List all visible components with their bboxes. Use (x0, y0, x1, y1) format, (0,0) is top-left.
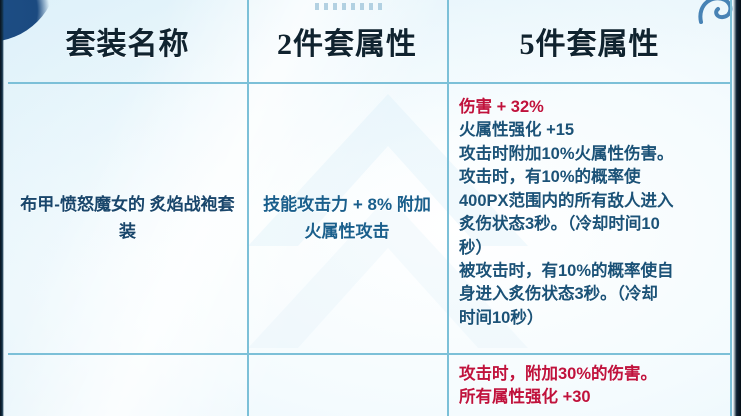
effect-line: 身进入炙伤状态3秒。（冷却 (459, 283, 674, 306)
cell-two-piece-bonus: 技能攻击力 + 8% 附加火属性攻击 (247, 84, 447, 353)
effect-line: 时间10秒） (459, 307, 674, 330)
two-piece-bonus-text: 技能攻击力 + 8% 附加火属性攻击 (257, 192, 437, 245)
cell-five-piece-bonus: 伤害 + 32%火属性强化 +15攻击时附加10%火属性伤害。攻击时，有10%的… (447, 84, 732, 353)
set-name-text: 布甲-愤怒魔女的 炙焰战袍套装 (18, 192, 237, 245)
effect-line: 秒） (459, 237, 674, 260)
five-piece-effect-list: 伤害 + 32%火属性强化 +15攻击时附加10%火属性伤害。攻击时，有10%的… (459, 96, 674, 330)
table-header-cell-two-piece: 2件套属性 (247, 0, 447, 82)
effect-line: 攻击时，附加30%的伤害。 (459, 363, 657, 386)
table-header-row: 套装名称 2件套属性 5件套属性 (8, 0, 732, 82)
header-label-two-piece: 2件套属性 (277, 19, 417, 63)
effect-line: 400PX范围内的所有敌人进入 (459, 190, 674, 213)
page-edge-right (733, 0, 741, 416)
header-label-set-name: 套装名称 (66, 19, 190, 63)
effect-line: 伤害 + 32% (459, 96, 674, 119)
five-piece-effect-list: 攻击时，附加30%的伤害。所有属性强化 +30 (459, 363, 657, 410)
slide-canvas: 套装名称 2件套属性 5件套属性 布甲-愤怒魔女的 炙焰战袍套装 技能攻击力 +… (0, 0, 741, 416)
header-label-five-piece: 5件套属性 (520, 19, 660, 63)
effect-line: 被攻击时，有10%的概率使自 (459, 260, 674, 283)
effect-line: 火属性强化 +15 (459, 119, 674, 142)
effect-line: 攻击时，有10%的概率使 (459, 166, 674, 189)
table-row: 布甲-愤怒魔女的 炙焰战袍套装 技能攻击力 + 8% 附加火属性攻击 伤害 + … (8, 84, 732, 353)
table-row: 攻击时，附加30%的伤害。所有属性强化 +30 (8, 355, 732, 416)
cell-set-name: 布甲-愤怒魔女的 炙焰战袍套装 (8, 84, 247, 353)
page-edge-left (0, 0, 4, 416)
effect-line: 所有属性强化 +30 (459, 386, 657, 409)
cell-two-piece-bonus (247, 355, 447, 416)
effect-line: 炙伤状态3秒。（冷却时间10 (459, 213, 674, 236)
effect-line: 攻击时附加10%火属性伤害。 (459, 143, 674, 166)
cell-five-piece-bonus: 攻击时，附加30%的伤害。所有属性强化 +30 (447, 355, 732, 416)
cell-set-name (8, 355, 247, 416)
set-bonus-table: 套装名称 2件套属性 5件套属性 布甲-愤怒魔女的 炙焰战袍套装 技能攻击力 +… (8, 0, 732, 416)
table-header-cell-five-piece: 5件套属性 (447, 0, 732, 82)
table-header-cell-set-name: 套装名称 (8, 0, 247, 82)
